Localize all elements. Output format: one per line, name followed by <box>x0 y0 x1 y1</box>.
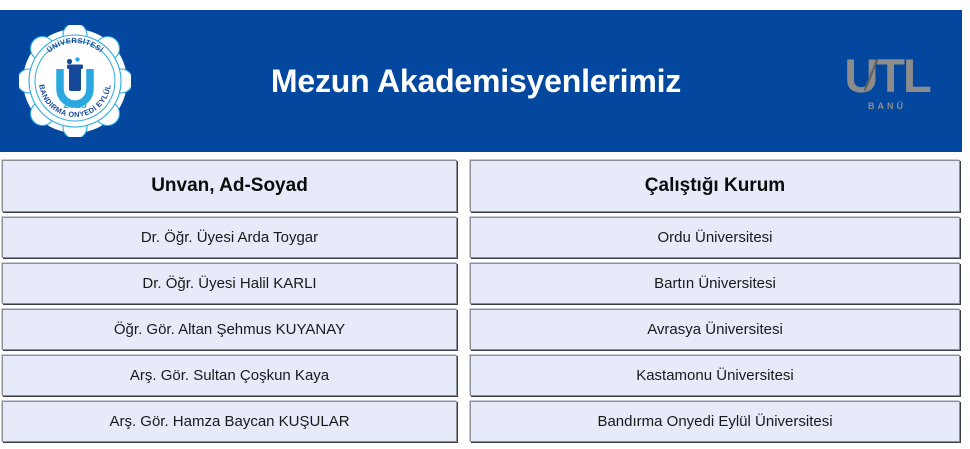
column-gap <box>457 263 470 304</box>
table-row: Öğr. Gör. Altan Şehmus KUYANAY Avrasya Ü… <box>2 309 960 350</box>
column-header-institution: Çalıştığı Kurum <box>470 160 960 212</box>
university-seal-icon: ÜNİVERSİTESİ BANDIRMA ONYEDİ EYLÜL 2015 <box>19 25 131 137</box>
page-title: Mezun Akademisyenlerimiz <box>271 63 681 100</box>
utl-sub-label: BANÜ <box>868 101 906 111</box>
column-gap <box>457 401 470 442</box>
table-header-row: Unvan, Ad-Soyad Çalıştığı Kurum <box>2 160 960 212</box>
cell-institution: Bandırma Onyedi Eylül Üniversitesi <box>470 401 960 442</box>
cell-institution-label: Bandırma Onyedi Eylül Üniversitesi <box>597 413 832 430</box>
cell-name-label: Arş. Gör. Sultan Çoşkun Kaya <box>130 367 329 384</box>
banner-title-container: Mezun Akademisyenlerimiz <box>150 63 812 100</box>
cell-name-label: Dr. Öğr. Üyesi Arda Toygar <box>141 229 318 246</box>
cell-name: Arş. Gör. Hamza Baycan KUŞULAR <box>2 401 457 442</box>
academics-table: Unvan, Ad-Soyad Çalıştığı Kurum Dr. Öğr.… <box>2 160 960 447</box>
column-gap <box>457 309 470 350</box>
cell-name: Dr. Öğr. Üyesi Halil KARLI <box>2 263 457 304</box>
cell-name-label: Arş. Gör. Hamza Baycan KUŞULAR <box>109 413 349 430</box>
header-banner: ÜNİVERSİTESİ BANDIRMA ONYEDİ EYLÜL 2015 <box>0 10 962 152</box>
column-gap <box>457 355 470 396</box>
cell-name: Arş. Gör. Sultan Çoşkun Kaya <box>2 355 457 396</box>
svg-text:2015: 2015 <box>63 99 87 111</box>
utl-wordmark: UTL <box>844 52 929 99</box>
cell-name: Dr. Öğr. Üyesi Arda Toygar <box>2 217 457 258</box>
column-gap <box>457 160 470 212</box>
column-header-institution-label: Çalıştığı Kurum <box>645 175 785 197</box>
column-gap <box>457 217 470 258</box>
slide-root: ÜNİVERSİTESİ BANDIRMA ONYEDİ EYLÜL 2015 <box>0 0 970 449</box>
cell-institution: Bartın Üniversitesi <box>470 263 960 304</box>
column-header-name-label: Unvan, Ad-Soyad <box>151 175 308 197</box>
table-row: Arş. Gör. Sultan Çoşkun Kaya Kastamonu Ü… <box>2 355 960 396</box>
cell-institution: Ordu Üniversitesi <box>470 217 960 258</box>
cell-name-label: Öğr. Gör. Altan Şehmus KUYANAY <box>114 321 345 338</box>
table-row: Dr. Öğr. Üyesi Arda Toygar Ordu Üniversi… <box>2 217 960 258</box>
table-row: Dr. Öğr. Üyesi Halil KARLI Bartın Üniver… <box>2 263 960 304</box>
cell-institution-label: Ordu Üniversitesi <box>657 229 772 246</box>
utl-logo: UTL BANÜ <box>812 52 962 111</box>
cell-name-label: Dr. Öğr. Üyesi Halil KARLI <box>142 275 316 292</box>
cell-institution-label: Avrasya Üniversitesi <box>647 321 783 338</box>
cell-institution-label: Bartın Üniversitesi <box>654 275 776 292</box>
cell-institution: Kastamonu Üniversitesi <box>470 355 960 396</box>
cell-institution-label: Kastamonu Üniversitesi <box>636 367 794 384</box>
university-logo: ÜNİVERSİTESİ BANDIRMA ONYEDİ EYLÜL 2015 <box>0 25 150 137</box>
cell-name: Öğr. Gör. Altan Şehmus KUYANAY <box>2 309 457 350</box>
cell-institution: Avrasya Üniversitesi <box>470 309 960 350</box>
utl-slash-icon <box>864 58 879 90</box>
table-row: Arş. Gör. Hamza Baycan KUŞULAR Bandırma … <box>2 401 960 442</box>
column-header-name: Unvan, Ad-Soyad <box>2 160 457 212</box>
